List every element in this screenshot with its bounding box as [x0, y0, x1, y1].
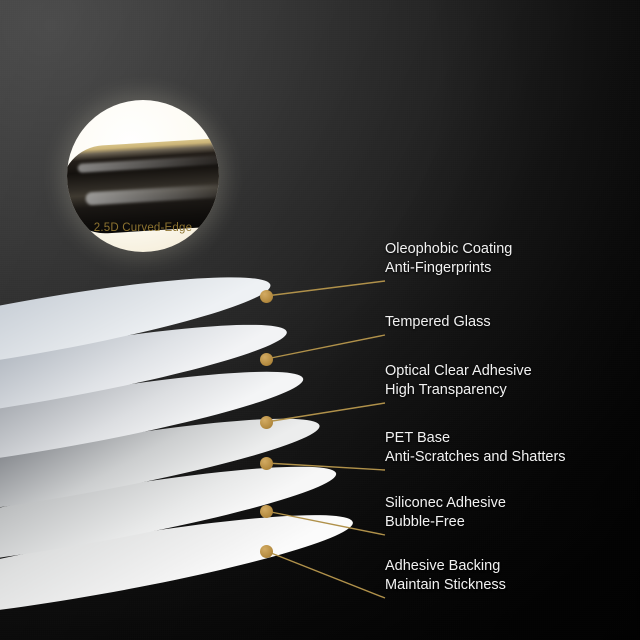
dot-optical-clear-adhesive: [260, 416, 273, 429]
callout-line-1: Oleophobic Coating: [385, 240, 533, 259]
dot-adhesive-backing: [260, 545, 273, 558]
phone-edge-highlight: [78, 153, 219, 172]
dot-oleophobic: [260, 290, 273, 303]
callout-underline: [385, 335, 513, 337]
leader-dots: [0, 0, 640, 640]
callout-line-1: Siliconec Adhesive: [385, 494, 533, 513]
callout-underline: [385, 598, 535, 600]
callout-optical-clear-adhesive: Optical Clear Adhesive High Transparency: [385, 362, 563, 405]
callout-tempered-glass: Tempered Glass: [385, 313, 513, 337]
callout-line-1: Optical Clear Adhesive: [385, 362, 563, 381]
callout-line-2: High Transparency: [385, 381, 563, 400]
callout-line-1: Adhesive Backing: [385, 557, 535, 576]
callout-line-1: Tempered Glass: [385, 313, 513, 332]
callout-underline: [385, 281, 533, 283]
callout-underline: [385, 535, 533, 537]
callout-line-2: Bubble-Free: [385, 513, 533, 532]
callout-oleophobic: Oleophobic Coating Anti-Fingerprints: [385, 240, 533, 283]
callout-line-2: Anti-Scratches and Shatters: [385, 448, 589, 467]
phone-edge-illustration: [67, 136, 219, 236]
callout-line-2: Anti-Fingerprints: [385, 259, 533, 278]
curved-edge-caption: 2.5D Curved-Edge: [67, 222, 219, 234]
dot-pet-base: [260, 457, 273, 470]
callout-underline: [385, 403, 563, 405]
curved-edge-closeup: 2.5D Curved-Edge: [67, 100, 219, 252]
callout-line-1: PET Base: [385, 429, 589, 448]
product-infographic: Overall Protection: [0, 0, 640, 640]
callout-line-2: Maintain Stickness: [385, 576, 535, 595]
callout-siliconec-adhesive: Siliconec Adhesive Bubble-Free: [385, 494, 533, 537]
callout-adhesive-backing: Adhesive Backing Maintain Stickness: [385, 557, 535, 600]
dot-siliconec-adhesive: [260, 505, 273, 518]
dot-tempered-glass: [260, 353, 273, 366]
callout-underline: [385, 470, 589, 472]
callout-pet-base: PET Base Anti-Scratches and Shatters: [385, 429, 589, 472]
